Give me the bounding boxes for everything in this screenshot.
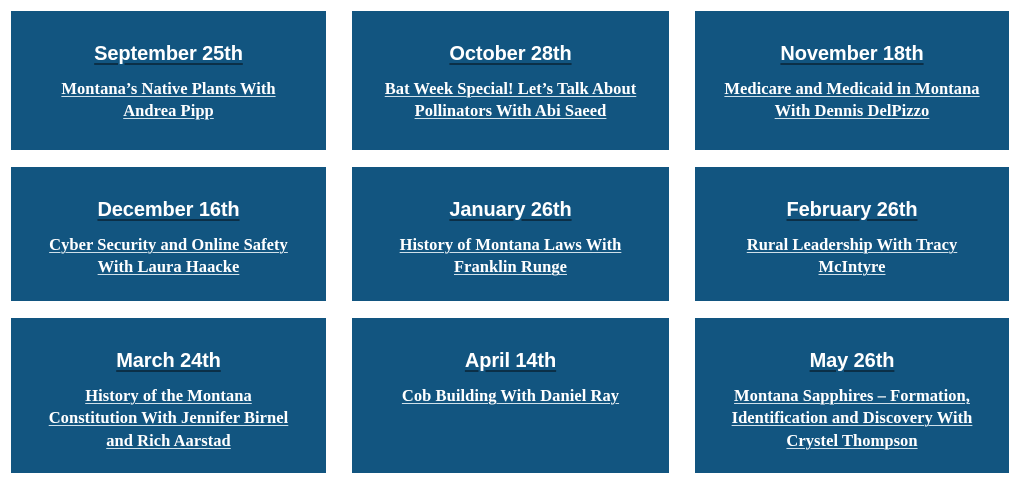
event-title: History of the Montana Constitution With… — [43, 385, 295, 452]
event-title: Bat Week Special! Let’s Talk About Polli… — [373, 78, 649, 123]
event-card[interactable]: April 14th Cob Building With Daniel Ray — [352, 318, 669, 473]
event-date: December 16th — [97, 198, 239, 223]
event-date: November 18th — [780, 42, 923, 67]
event-date: September 25th — [94, 42, 243, 67]
event-date: April 14th — [465, 349, 556, 374]
events-grid: September 25th Montana’s Native Plants W… — [0, 0, 1018, 482]
event-card[interactable]: January 26th History of Montana Laws Wit… — [352, 167, 669, 301]
event-title: Montana Sapphires – Formation, Identific… — [714, 385, 990, 452]
event-card[interactable]: May 26th Montana Sapphires – Formation, … — [695, 318, 1009, 473]
event-date: October 28th — [449, 42, 571, 67]
event-date: February 26th — [787, 198, 918, 223]
event-title: Montana’s Native Plants With Andrea Pipp — [43, 78, 295, 123]
event-title: History of Montana Laws With Franklin Ru… — [385, 234, 637, 279]
event-card[interactable]: November 18th Medicare and Medicaid in M… — [695, 11, 1009, 150]
event-card[interactable]: December 16th Cyber Security and Online … — [11, 167, 326, 301]
event-card[interactable]: February 26th Rural Leadership With Trac… — [695, 167, 1009, 301]
event-title: Cyber Security and Online Safety With La… — [31, 234, 307, 279]
event-date: May 26th — [810, 349, 895, 374]
event-card[interactable]: October 28th Bat Week Special! Let’s Tal… — [352, 11, 669, 150]
event-title: Medicare and Medicaid in Montana With De… — [714, 78, 990, 123]
event-date: January 26th — [449, 198, 571, 223]
event-title: Rural Leadership With Tracy McIntyre — [726, 234, 978, 279]
event-card[interactable]: March 24th History of the Montana Consti… — [11, 318, 326, 473]
event-card[interactable]: September 25th Montana’s Native Plants W… — [11, 11, 326, 150]
event-date: March 24th — [116, 349, 221, 374]
event-title: Cob Building With Daniel Ray — [402, 385, 619, 407]
